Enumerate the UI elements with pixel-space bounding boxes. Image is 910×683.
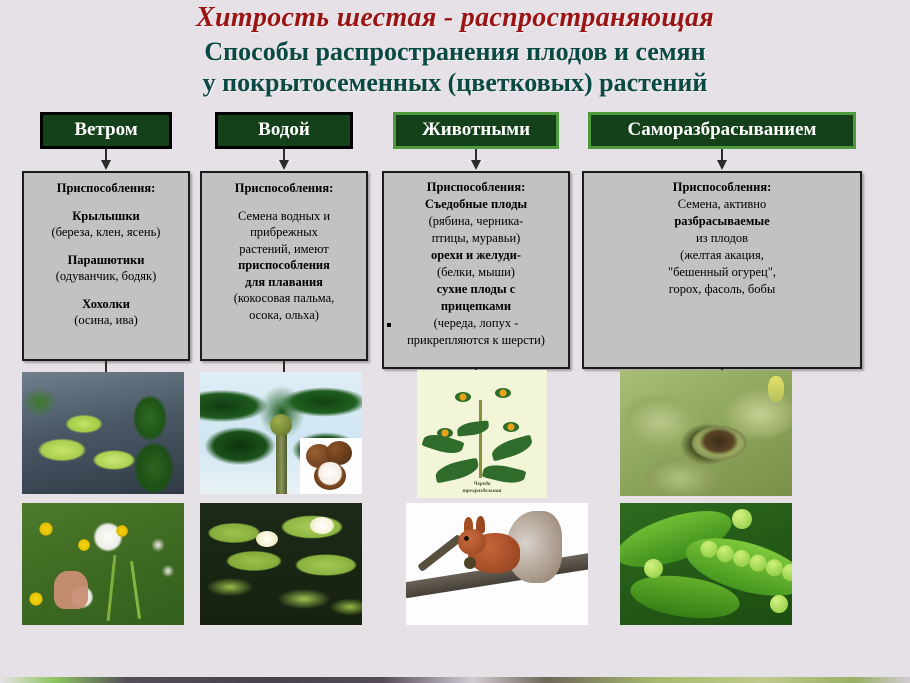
column-water: Водой Приспособления: Семена водных и пр…	[200, 112, 368, 383]
column-animals: Животными Приспособления: Съедобные плод…	[382, 112, 570, 391]
lily-flower	[256, 531, 278, 547]
dandelion-stem	[107, 555, 117, 621]
slide-subtitle: Способы распространения плодов и семян у…	[0, 36, 910, 98]
chip-water[interactable]: Водой	[215, 112, 353, 149]
panel-line: Семена водных и	[238, 209, 330, 223]
panel-heading: Приспособления:	[235, 181, 334, 195]
panel-water: Приспособления: Семена водных и прибрежн…	[200, 171, 368, 361]
panel-line: Семена, активно	[678, 197, 766, 211]
arrow-down-icon	[582, 149, 862, 171]
panel-line: осока, ольха)	[249, 308, 319, 322]
lily-flower	[310, 517, 334, 534]
panel-heading: Приспособления:	[57, 181, 156, 195]
panel-line: птицы, муравьи)	[432, 231, 521, 245]
hand	[54, 571, 88, 609]
panel-line: (береза, клен, ясень)	[52, 225, 161, 239]
panel-line: (череда, лопух -	[434, 316, 519, 330]
arrow-down-icon	[200, 149, 368, 171]
water-lily-photo	[200, 503, 362, 625]
panel-line: для плавания	[245, 275, 323, 289]
panel-line: Крылышки	[72, 209, 140, 223]
bur-marigold-plate: Череда трехраздельная	[417, 370, 547, 498]
burst-fruit	[692, 426, 746, 460]
panel-wind: Приспособления: Крылышки (береза, клен, …	[22, 171, 190, 361]
panel-heading: Приспособления:	[673, 180, 772, 194]
squirting-cucumber-photo	[620, 370, 792, 496]
panel-line: Съедобные плоды	[425, 197, 527, 211]
panel-line: (осина, ива)	[74, 313, 138, 327]
column-self-dispersal: Саморазбрасыванием Приспособления: Семен…	[582, 112, 862, 391]
chip-wind[interactable]: Ветром	[40, 112, 172, 149]
loose-pea	[732, 509, 752, 529]
panel-line: (одуванчик, бодяк)	[56, 269, 157, 283]
green-coconuts	[270, 414, 292, 436]
squirrel-head	[458, 529, 486, 555]
panel-line: Парашютики	[68, 253, 145, 267]
panel-line: (белки, мыши)	[437, 265, 515, 279]
panel-line: сухие плоды с	[437, 282, 516, 296]
squirrel-eye	[464, 536, 469, 541]
panel-line: из плодов	[696, 231, 748, 245]
panel-heading: Приспособления:	[427, 180, 526, 194]
slide-title: Хитрость шестая - распространяющая	[0, 2, 910, 34]
panel-self-dispersal: Приспособления: Семена, активно разбрасы…	[582, 171, 862, 369]
panel-line: орехи и желуди-	[431, 248, 521, 262]
panel-line: прицепками	[441, 299, 511, 313]
plate-caption-line-2: трехраздельная	[463, 488, 502, 494]
plate-caption-line-1: Череда	[473, 481, 490, 487]
acorn	[464, 557, 476, 569]
panel-line: (кокосовая пальма,	[234, 291, 335, 305]
branch	[417, 534, 463, 572]
panel-line: растений, имеют	[239, 242, 328, 256]
arrow-down-icon	[22, 149, 190, 171]
coconut-palm-photo	[200, 372, 362, 494]
chip-self-dispersal[interactable]: Саморазбрасыванием	[588, 112, 856, 149]
squirrel-photo	[406, 503, 588, 625]
column-wind: Ветром Приспособления: Крылышки (береза,…	[22, 112, 190, 383]
loose-pea	[644, 559, 663, 578]
panel-line: приспособления	[238, 258, 330, 272]
panel-line: прикрепляются к шерсти)	[407, 333, 545, 347]
panel-line: Хохолки	[82, 297, 130, 311]
dandelion-photo	[22, 503, 184, 625]
pea-pods-photo	[620, 503, 792, 625]
flower-bud	[768, 376, 784, 402]
subtitle-line-1: Способы распространения плодов и семян	[204, 37, 705, 66]
chip-animals[interactable]: Животными	[393, 112, 559, 149]
panel-line: (рябина, черника-	[429, 214, 524, 228]
subtitle-line-2: у покрытосеменных (цветковых) растений	[0, 67, 910, 98]
maple-seeds-photo	[22, 372, 184, 494]
bottom-decorative-strip	[0, 677, 910, 683]
panel-line: разбрасываемые	[674, 214, 769, 228]
panel-line: "бешенный огурец",	[668, 265, 776, 279]
panel-line: (желтая акация,	[680, 248, 764, 262]
loose-pea	[770, 595, 788, 613]
plate-caption: Череда трехраздельная	[417, 481, 547, 495]
arrow-down-icon	[382, 149, 570, 171]
slide-root: Хитрость шестая - распространяющая Спосо…	[0, 0, 910, 683]
coconut-inset-photo	[300, 438, 362, 494]
panel-animals: Приспособления: Съедобные плоды (рябина,…	[382, 171, 570, 369]
panel-line: прибрежных	[250, 225, 318, 239]
plant-stem	[479, 400, 482, 478]
dandelion-stem	[130, 561, 141, 619]
bullet-marker	[387, 323, 391, 327]
panel-line: горох, фасоль, бобы	[669, 282, 776, 296]
